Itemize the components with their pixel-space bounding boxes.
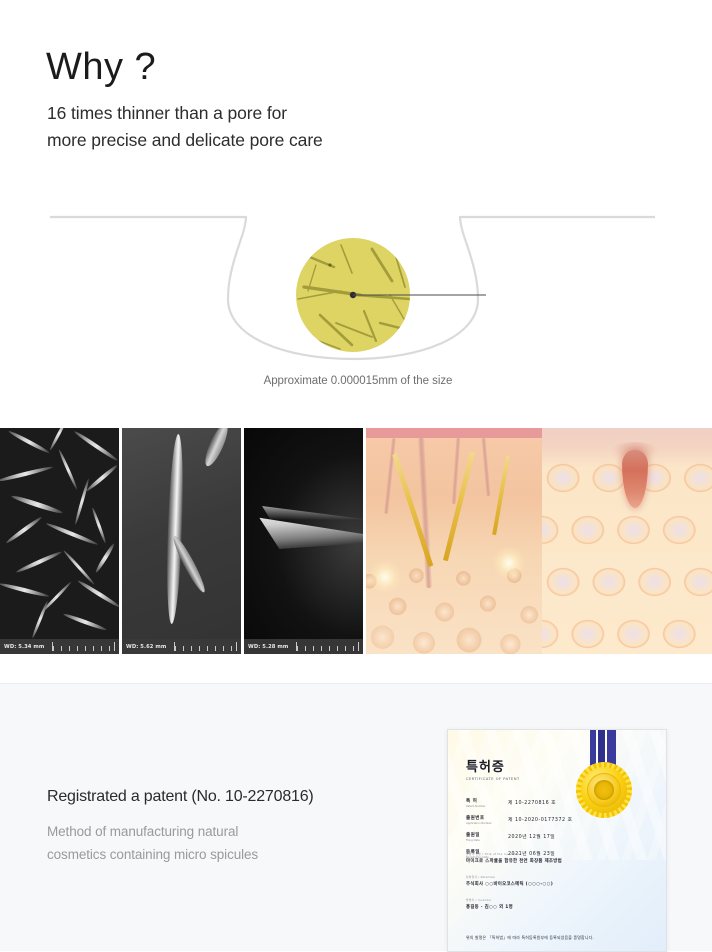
- spicule-size-annotation: Approximate 0.000015mm of the size: [0, 375, 712, 387]
- sem-image-scattered-spicules: WD: 5.34 mm: [0, 428, 122, 654]
- certificate-block-value: 마이크로 스파큘을 함유한 천연 화장품 제조방법: [466, 858, 641, 864]
- certificate-row-key: 출원번호 Application Number: [466, 815, 508, 825]
- certificate-block-value: 홍길동 · 김○○ 외 1명: [466, 904, 641, 910]
- patent-description: Method of manufacturing natural cosmetic…: [47, 820, 377, 866]
- image-strip: WD: 5.34 mm WD: 5.62 mm WD: 5.28 mm: [0, 428, 712, 654]
- certificate-detail-blocks: 발명의 명칭 / Title of the Invention 마이크로 스파큘…: [466, 852, 641, 921]
- certificate-block-label: 발명의 명칭 / Title of the Invention: [466, 852, 641, 856]
- certificate-row: 출원번호 Application Number 제 10-2020-017737…: [466, 815, 616, 825]
- sem-scale-ruler: [174, 642, 237, 651]
- certificate-row: 특 허 Patent Number 제 10-2270816 호: [466, 798, 616, 808]
- sem-metadata-bar: WD: 5.34 mm: [0, 639, 119, 654]
- patent-description-line-1: Method of manufacturing natural: [47, 820, 377, 843]
- sem-scale-ruler: [52, 642, 115, 651]
- certificate-block-label: 특허권자 / Patentee: [466, 875, 641, 879]
- sem-metadata-bar: WD: 5.28 mm: [244, 639, 363, 654]
- certificate-heading: 특허증 CERTIFICATE OF PATENT: [466, 756, 520, 781]
- sem-working-distance-label: WD: 5.34 mm: [0, 644, 44, 650]
- patent-title: Registrated a patent (No. 10-2270816): [47, 788, 377, 806]
- skin-cross-section-illustration: [366, 428, 542, 654]
- pore-honeycomb-illustration: [542, 428, 712, 654]
- certificate-row-key-ko: 특 허: [466, 798, 508, 804]
- certificate-row-key-ko: 출원번호: [466, 815, 508, 821]
- hair-follicle-strand: [481, 438, 490, 496]
- certificate-block-value: 주식회사 ○○바이오코스메틱 (○○○-○○): [466, 881, 641, 887]
- certificate-row-key-en: Patent Number: [466, 805, 508, 808]
- hero-section: Why ? 16 times thinner than a pore for m…: [0, 0, 712, 200]
- sem-working-distance-label: WD: 5.28 mm: [244, 644, 288, 650]
- hero-subtitle-line-2: more precise and delicate pore care: [47, 127, 323, 154]
- certificate-row-key: 출원일 Filing Date: [466, 832, 508, 842]
- certificate-row-value: 제 10-2270816 호: [508, 798, 556, 808]
- page-title: Why ?: [46, 45, 156, 91]
- certificate-block: 발명자 / Inventor 홍길동 · 김○○ 외 1명: [466, 898, 641, 910]
- sem-image-single-spicule: WD: 5.62 mm: [122, 428, 244, 654]
- certificate-row-key: 특 허 Patent Number: [466, 798, 508, 808]
- certificate-row: 출원일 Filing Date 2020년 12월 17일: [466, 832, 616, 842]
- patent-text-block: Registrated a patent (No. 10-2270816) Me…: [47, 788, 377, 866]
- certificate-block: 발명의 명칭 / Title of the Invention 마이크로 스파큘…: [466, 852, 641, 864]
- spicule-glow: [368, 560, 402, 594]
- certificate-heading-english: CERTIFICATE OF PATENT: [466, 777, 520, 781]
- certificate-row-key-en: Application Number: [466, 822, 508, 825]
- certificate-row-value: 2020년 12월 17일: [508, 832, 555, 842]
- certificate-footer-text: 위의 발명은 「특허법」에 따라 특허등록원부에 등록되었음을 증명합니다.: [466, 935, 652, 941]
- patent-description-line-2: cosmetics containing micro spicules: [47, 843, 377, 866]
- certificate-block: 특허권자 / Patentee 주식회사 ○○바이오코스메틱 (○○○-○○): [466, 875, 641, 887]
- sem-working-distance-label: WD: 5.62 mm: [122, 644, 166, 650]
- spicule-glow: [492, 546, 526, 580]
- sem-metadata-bar: WD: 5.62 mm: [122, 639, 241, 654]
- certificate-block-label: 발명자 / Inventor: [466, 898, 641, 902]
- seal-ring-inner: [594, 780, 614, 800]
- sem-image-spicule-tip: WD: 5.28 mm: [244, 428, 366, 654]
- hero-subtitle-line-1: 16 times thinner than a pore for: [47, 100, 323, 127]
- spicule-size-annotation-text: Approximate 0.000015mm of the size: [264, 375, 453, 387]
- hair-follicle-strand: [384, 438, 396, 514]
- patent-certificate-image: 특허증 CERTIFICATE OF PATENT 특 허 Patent Num…: [447, 729, 667, 952]
- certificate-heading-korean: 특허증: [466, 756, 520, 775]
- hero-subtitle: 16 times thinner than a pore for more pr…: [47, 100, 323, 154]
- certificate-row-key-en: Filing Date: [466, 839, 508, 842]
- certificate-row-value: 제 10-2020-0177372 호: [508, 815, 573, 825]
- certificate-row-key-ko: 출원일: [466, 832, 508, 838]
- sem-scale-ruler: [296, 642, 359, 651]
